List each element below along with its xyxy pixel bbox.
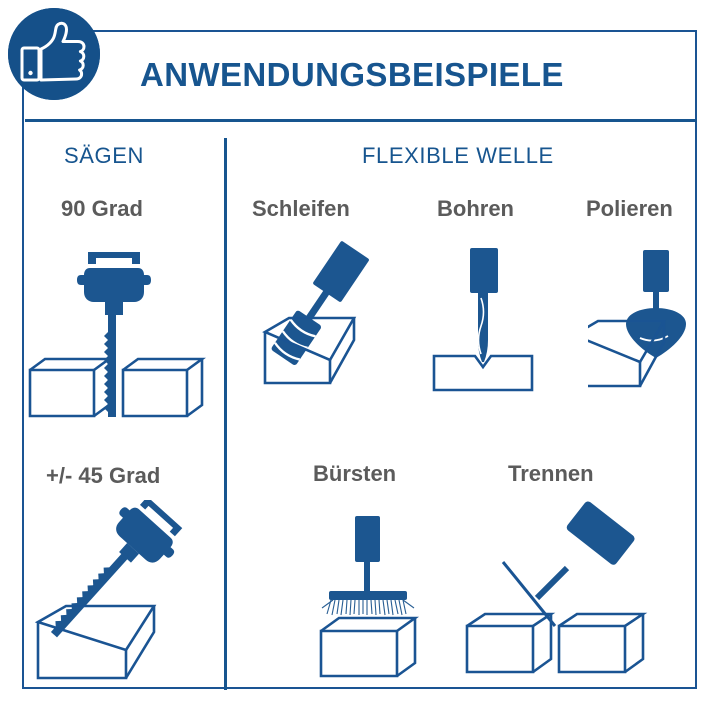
page-title: ANWENDUNGSBEISPIELE (140, 56, 564, 94)
caption-schleifen: Schleifen (252, 196, 350, 222)
column-divider (224, 138, 227, 690)
jigsaw-vertical-cut-icon (20, 240, 220, 430)
wire-brush-icon (305, 508, 465, 680)
polishing-cone-icon (588, 240, 706, 405)
jigsaw-angled-cut-icon (28, 500, 223, 685)
caption-90-grad: 90 Grad (61, 196, 143, 222)
caption-buersten: Bürsten (313, 461, 396, 487)
thumbs-up-icon (8, 8, 100, 100)
section-heading-flexible-welle: FLEXIBLE WELLE (362, 143, 554, 169)
caption-bohren: Bohren (437, 196, 514, 222)
cutting-disc-icon (455, 500, 655, 682)
caption-polieren: Polieren (586, 196, 673, 222)
poster-root: ANWENDUNGSBEISPIELE SÄGEN FLEXIBLE WELLE… (0, 0, 720, 719)
section-heading-saegen: SÄGEN (64, 143, 144, 169)
drill-bit-icon (420, 240, 560, 400)
caption-45-grad: +/- 45 Grad (46, 463, 160, 489)
header-divider (25, 119, 697, 122)
sanding-drum-icon (255, 240, 405, 410)
caption-trennen: Trennen (508, 461, 594, 487)
